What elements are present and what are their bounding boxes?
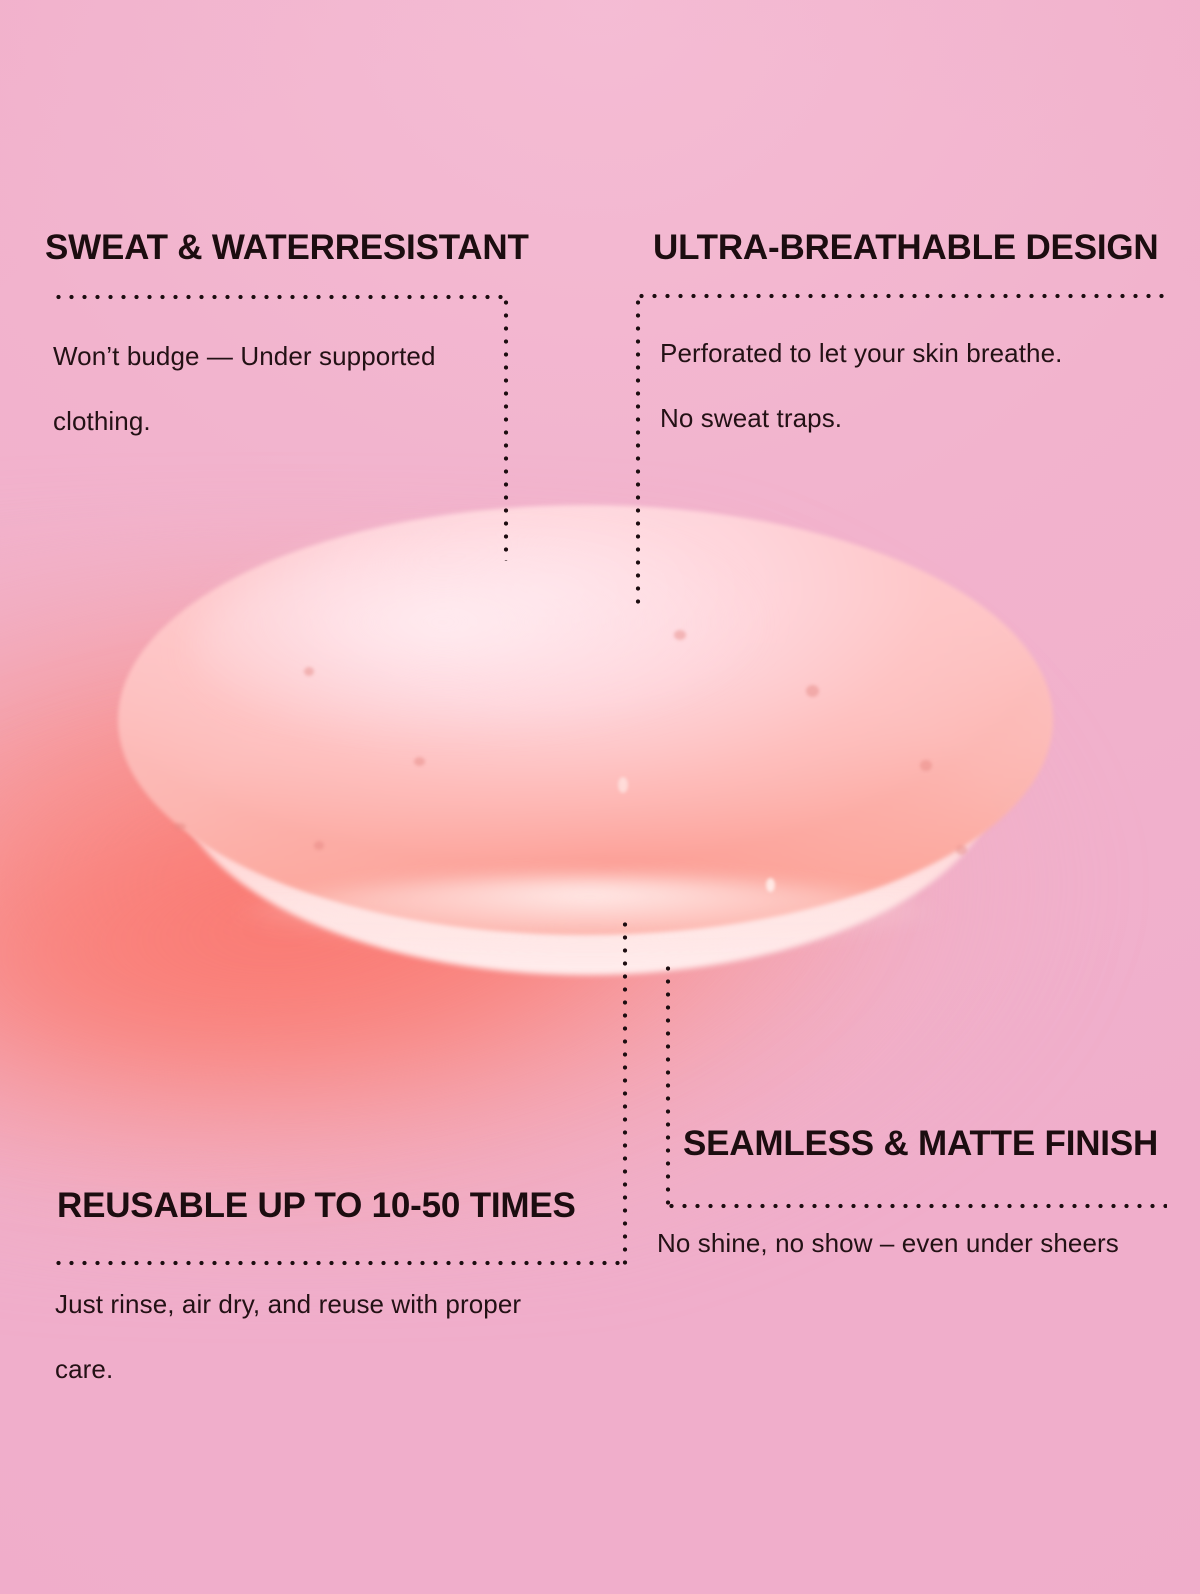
callout-heading-sweat-water-resistant: SWEAT & WATERRESISTANT — [45, 228, 529, 268]
leader-line-horizontal-sweat-water-resistant — [52, 294, 507, 300]
callout-heading-seamless-matte: SEAMLESS & MATTE FINISH — [683, 1124, 1158, 1164]
leader-line-horizontal-reusable — [52, 1260, 626, 1266]
product-feature-infographic: SWEAT & WATERRESISTANT Won’t budge — Und… — [0, 0, 1200, 1594]
callout-body-line-seamless-matte-1: No shine, no show – even under sheers — [657, 1228, 1119, 1259]
leader-line-vertical-seamless-matte — [665, 962, 671, 1208]
callout-body-line-ultra-breathable-design-1: Perforated to let your skin breathe. — [660, 338, 1063, 369]
callout-heading-reusable: REUSABLE UP TO 10-50 TIMES — [57, 1186, 576, 1226]
callout-body-line-ultra-breathable-design-2: No sweat traps. — [660, 403, 842, 434]
callout-heading-ultra-breathable-design: ULTRA-BREATHABLE DESIGN — [653, 228, 1158, 268]
leader-line-vertical-reusable — [622, 918, 628, 1266]
callout-body-line-reusable-1: Just rinse, air dry, and reuse with prop… — [55, 1289, 521, 1320]
callout-body-line-sweat-water-resistant-1: Won’t budge — Under supported — [53, 341, 436, 372]
leader-line-vertical-ultra-breathable-design — [635, 296, 641, 608]
leader-line-horizontal-ultra-breathable-design — [635, 293, 1167, 299]
callout-body-line-reusable-2: care. — [55, 1354, 113, 1385]
leader-line-vertical-sweat-water-resistant — [503, 296, 509, 561]
leader-line-horizontal-seamless-matte — [665, 1203, 1167, 1209]
callout-body-line-sweat-water-resistant-2: clothing. — [53, 406, 151, 437]
